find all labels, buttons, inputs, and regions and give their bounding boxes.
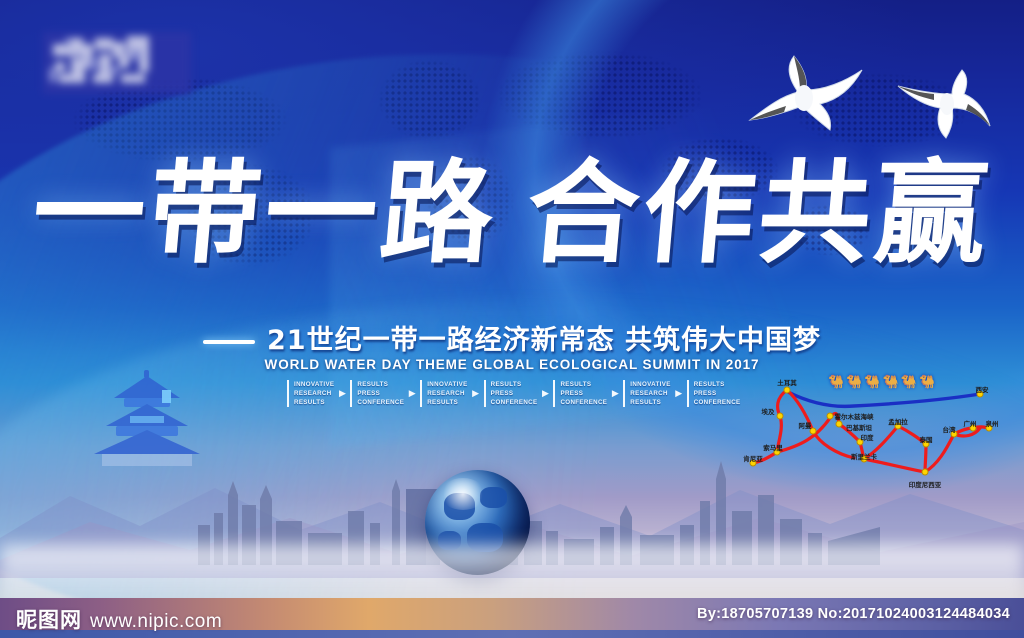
tag-cell-text: INNOVATIVERESEARCHRESULTS: [287, 380, 334, 407]
seagull-icon-large: [740, 48, 870, 138]
tag-cell: RESULTSPRESSCONFERENCE▶: [484, 380, 554, 407]
route-node-label: 孟加拉: [888, 416, 908, 426]
route-node-dot: [922, 469, 929, 476]
route-node-label: 斯里兰卡: [851, 451, 877, 461]
route-node-dot: [827, 413, 834, 420]
route-node-label: 霍尔木兹海峡: [835, 411, 874, 421]
route-node-label: 土耳其: [777, 377, 797, 387]
tag-arrow-icon: ▶: [607, 389, 623, 398]
subtitle-text: 21世纪一带一路经济新常态 共筑伟大中国梦: [267, 325, 821, 356]
subtitle: 21世纪一带一路经济新常态 共筑伟大中国梦: [0, 318, 1024, 357]
seagull-icon-small: [890, 68, 994, 144]
tag-cell-text: RESULTSPRESSCONFERENCE: [350, 380, 404, 407]
tag-cell: RESULTSPRESSCONFERENCE▶: [350, 380, 420, 407]
subtitle-rule: [203, 340, 255, 344]
route-node-label: 印度: [861, 432, 874, 442]
site-url: www.nipic.com: [90, 611, 222, 633]
title-sub-text: 合作共赢: [521, 148, 996, 279]
route-node-label: 台湾: [943, 424, 956, 434]
page-title: 一带一路合作共赢: [0, 158, 1024, 270]
tag-arrow-icon: ▶: [404, 389, 420, 398]
route-node-label: 泰国: [920, 434, 933, 444]
tag-arrow-icon: ▶: [671, 389, 687, 398]
route-node-label: 埃及: [762, 406, 775, 416]
site-watermark: 昵图网 www.nipic.com: [16, 604, 222, 634]
credit-text: By:18705707139 No:20171024003124484034: [697, 606, 1010, 622]
site-name-cn: 昵图网: [16, 604, 82, 634]
route-node-dot: [836, 421, 843, 428]
tag-cell: RESULTSPRESSCONFERENCE: [687, 380, 741, 407]
tag-cell-text: INNOVATIVERESEARCHRESULTS: [420, 380, 467, 407]
camel-icon: 🐫: [864, 375, 880, 388]
tag-cell: INNOVATIVERESEARCHRESULTS▶: [623, 380, 686, 407]
tag-cell: RESULTSPRESSCONFERENCE▶: [553, 380, 623, 407]
pixelated-blocks-icon: [43, 32, 191, 94]
belt-and-road-route-map: 🐫🐫🐫🐫🐫🐫 土耳其埃及阿曼索马里肯尼亚霍尔木兹海峡巴基斯坦印度斯里兰卡孟加拉泰…: [742, 366, 1024, 484]
tag-arrow-icon: ▶: [468, 389, 484, 398]
tag-cell-text: RESULTSPRESSCONFERENCE: [553, 380, 607, 407]
route-node-dot: [784, 387, 791, 394]
route-node-label: 泉州: [986, 418, 999, 428]
blurred-logo-watermark: [43, 32, 191, 94]
tag-cell-text: RESULTSPRESSCONFERENCE: [484, 380, 538, 407]
camel-icon: 🐫: [919, 375, 935, 388]
route-node-label: 西安: [976, 384, 989, 394]
title-main-text: 一带一路: [27, 148, 502, 279]
tag-arrow-icon: ▶: [537, 389, 553, 398]
camel-icon: 🐫: [846, 375, 862, 388]
tag-cell: INNOVATIVERESEARCHRESULTS▶: [420, 380, 483, 407]
tag-arrow-icon: ▶: [334, 389, 350, 398]
route-node-label: 印度尼西亚: [909, 479, 942, 489]
camel-icon: 🐫: [883, 375, 899, 388]
route-node-label: 巴基斯坦: [846, 422, 872, 432]
route-node-dot: [777, 413, 784, 420]
camel-caravan-icons: 🐫🐫🐫🐫🐫🐫: [828, 368, 948, 388]
camel-icon: 🐫: [901, 375, 917, 388]
camel-icon: 🐫: [828, 375, 844, 388]
route-node-label: 广州: [964, 418, 977, 428]
route-node-label: 肯尼亚: [743, 453, 763, 463]
poster-canvas: 一带一路合作共赢 21世纪一带一路经济新常态 共筑伟大中国梦 WORLD WAT…: [0, 0, 1024, 638]
temple-of-heaven-icon: [84, 368, 210, 468]
tag-cell: INNOVATIVERESEARCHRESULTS▶: [287, 380, 350, 407]
tag-cell-text: RESULTSPRESSCONFERENCE: [687, 380, 741, 407]
tag-cell-text: INNOVATIVERESEARCHRESULTS: [623, 380, 670, 407]
tag-strip: INNOVATIVERESEARCHRESULTS▶RESULTSPRESSCO…: [287, 376, 747, 410]
route-node-label: 索马里: [763, 442, 783, 452]
route-node-label: 阿曼: [799, 420, 812, 430]
